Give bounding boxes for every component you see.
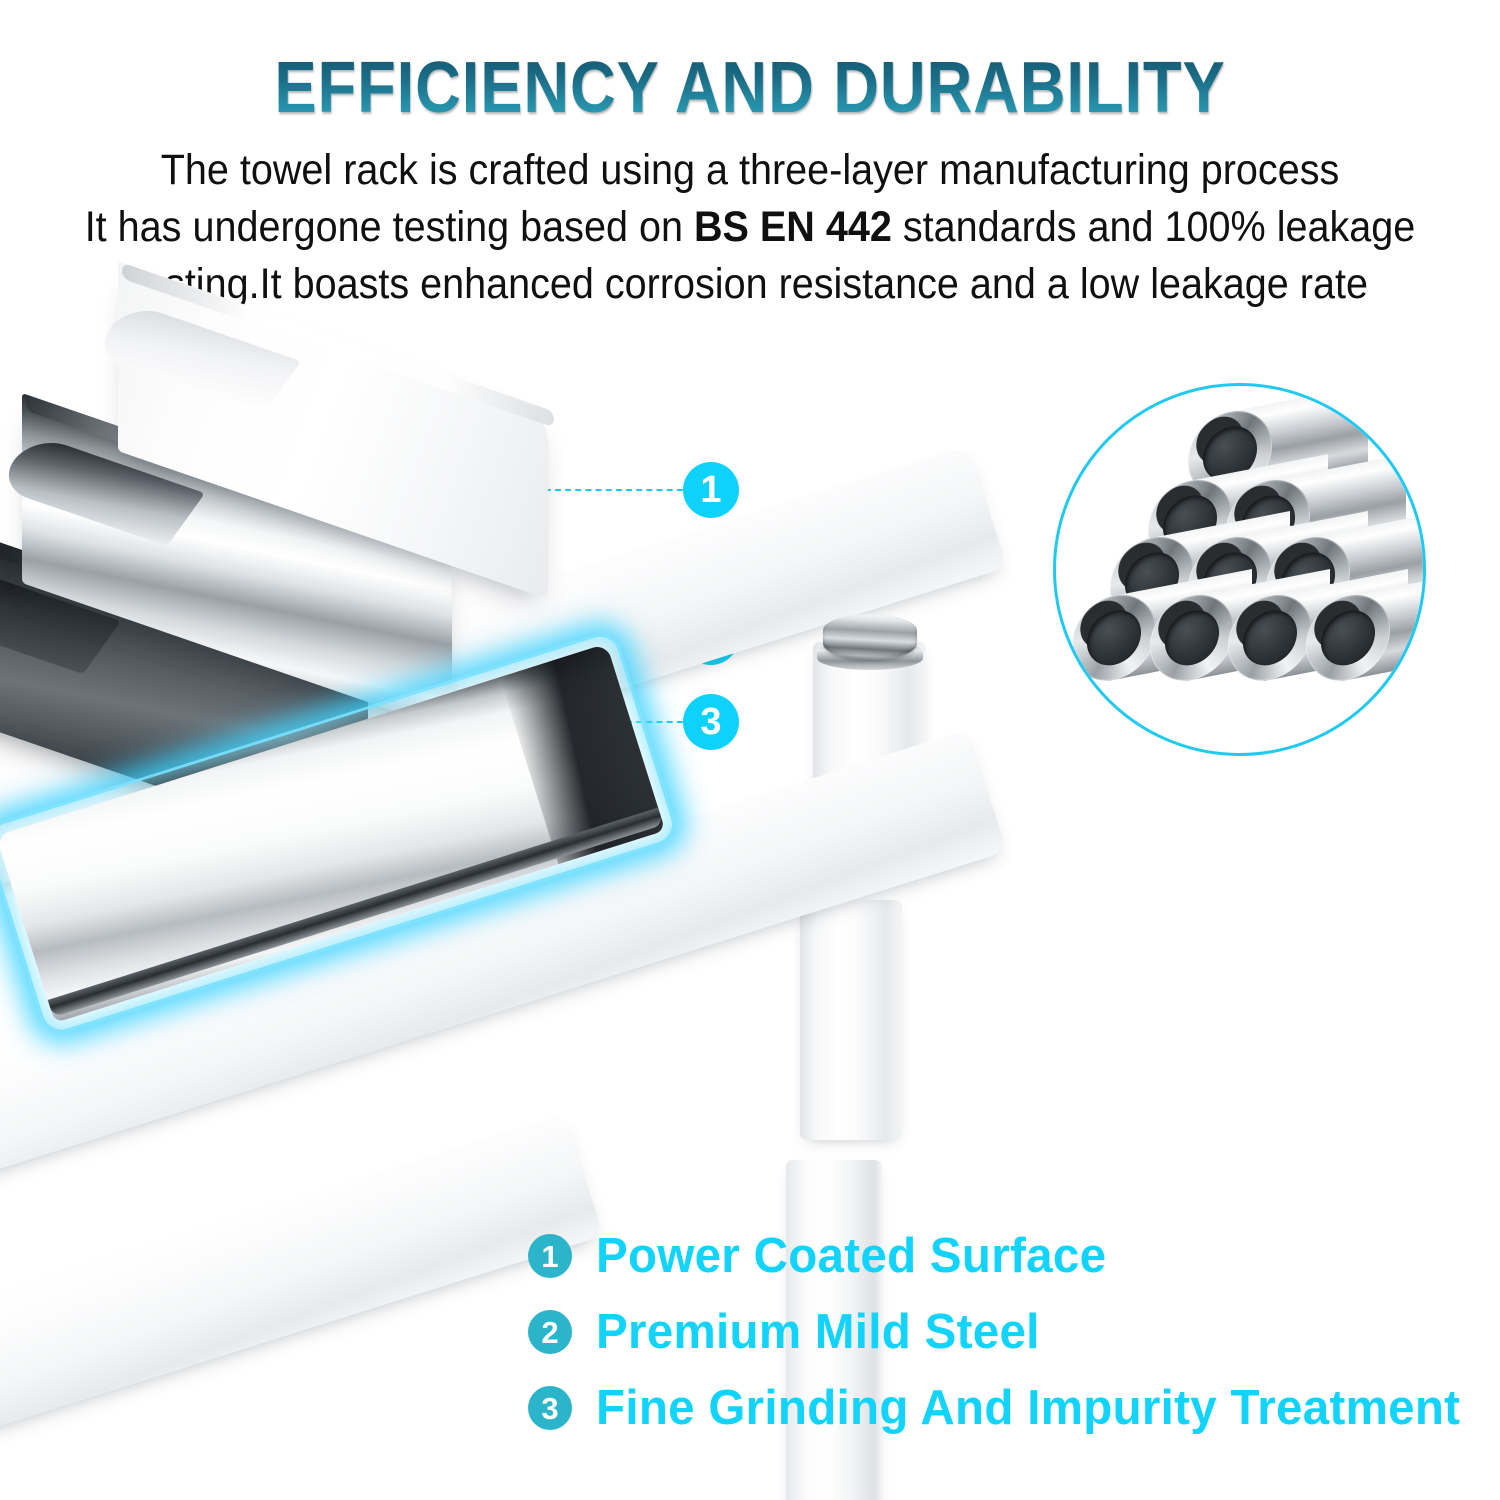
infographic-canvas: EFFICIENCY AND DURABILITY The towel rack… [0,0,1500,1500]
rail-bar-bottom [0,1113,603,1464]
layer-powder-coat-white [118,335,588,550]
legend-badge-3: 3 [528,1386,572,1430]
legend-badge-1: 1 [528,1234,572,1278]
bleed-valve-icon [815,614,925,670]
subtitle-line-2: It has undergone testing based on BS EN … [60,199,1440,256]
legend-label-2: Premium Mild Steel [596,1304,1040,1360]
subtitle-line-1: The towel rack is crafted using a three-… [60,142,1440,199]
legend-label-1: Power Coated Surface [596,1228,1106,1284]
subtitle-block: The towel rack is crafted using a three-… [0,142,1500,312]
legend-label-3: Fine Grinding And Impurity Treatment [596,1380,1460,1436]
steel-tubes-inset [1053,383,1426,756]
callout-badge-1: 1 [683,462,739,518]
legend-item-1: 1 Power Coated Surface [528,1218,1488,1294]
legend-item-2: 2 Premium Mild Steel [528,1294,1488,1370]
subtitle-line-2-post: standards and 100% leakage [892,203,1415,251]
header: EFFICIENCY AND DURABILITY The towel rack… [0,0,1500,312]
layer-sheet-shape [118,335,588,550]
standard-code: BS EN 442 [694,203,892,251]
subtitle-line-2-pre: It has undergone testing based on [85,203,694,251]
rail-riser-middle [800,900,902,1140]
legend-item-3: 3 Fine Grinding And Impurity Treatment [528,1370,1488,1446]
legend: 1 Power Coated Surface 2 Premium Mild St… [528,1218,1488,1446]
steel-tubes-photo [1056,386,1423,753]
valve-cap [823,614,917,660]
legend-badge-2: 2 [528,1310,572,1354]
subtitle-line-3: testing.It boasts enhanced corrosion res… [60,256,1440,313]
page-title: EFFICIENCY AND DURABILITY [90,52,1410,124]
